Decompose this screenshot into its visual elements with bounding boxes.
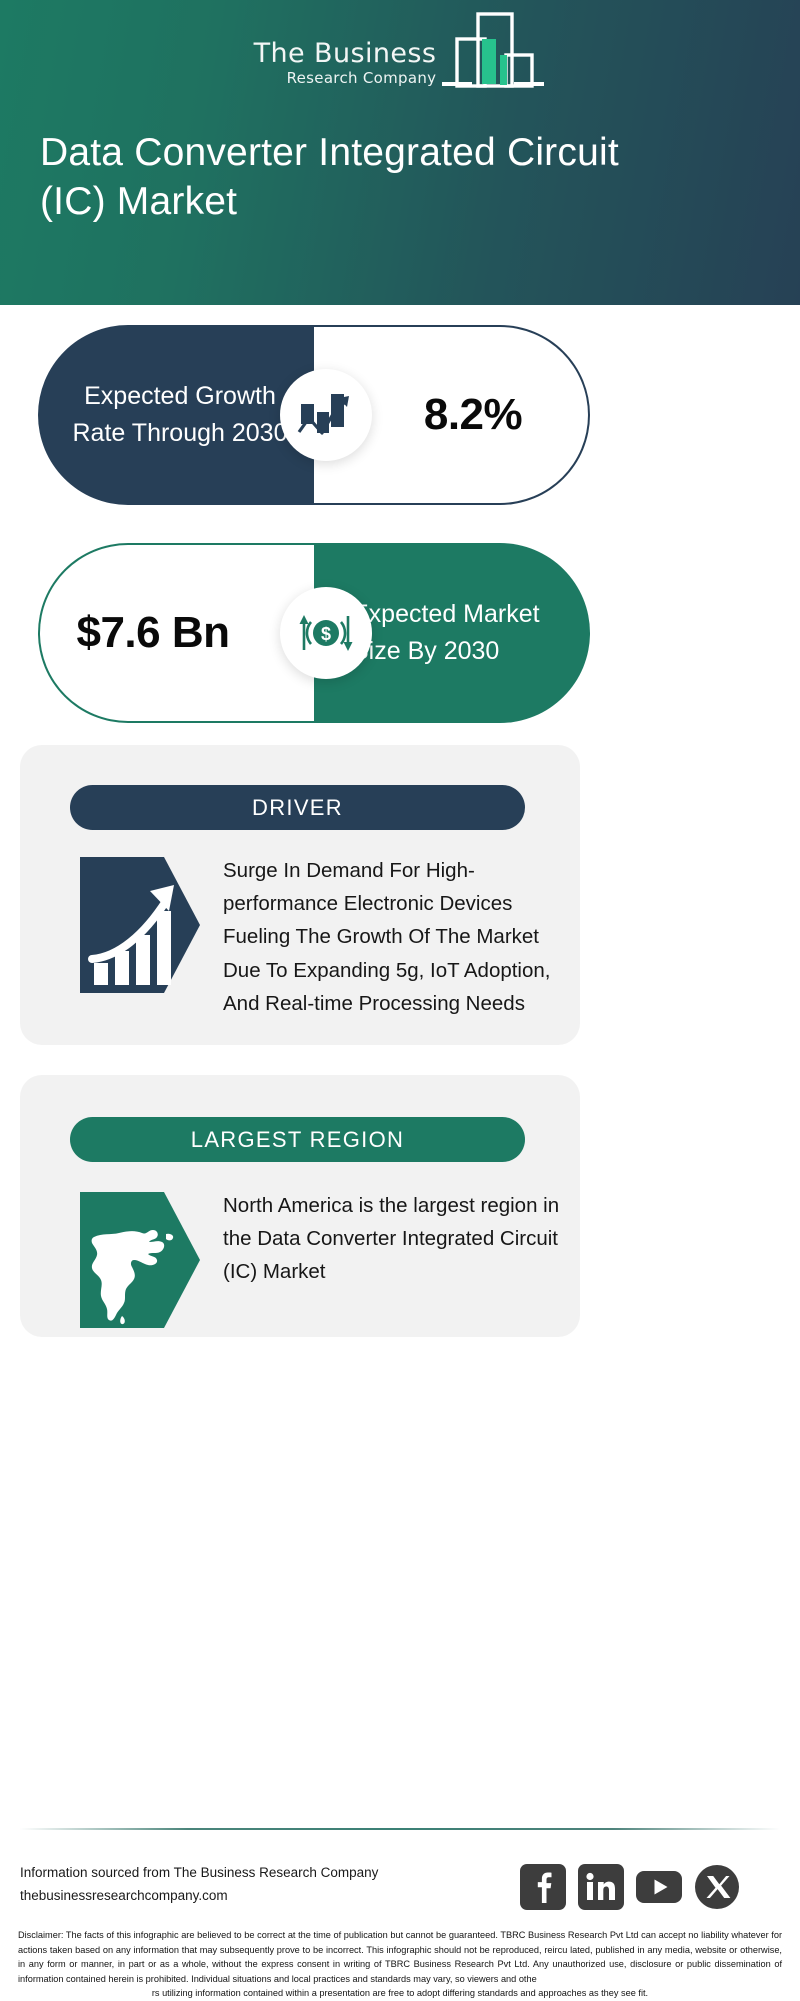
disclaimer-last-line: rs utilizing information contained withi… [18, 1986, 782, 2001]
company-logo: The Business Research Company [0, 14, 800, 90]
stat-value: 8.2% [380, 390, 522, 440]
social-links [520, 1862, 780, 1912]
driver-heading-pill: DRIVER [70, 785, 525, 830]
infographic-page: The Business Research Company Data Conve… [0, 0, 800, 2000]
footer-divider [20, 1828, 780, 1830]
growth-bar-chart-arrow-icon [280, 369, 372, 461]
driver-text: Surge In Demand For High-performance Ele… [223, 852, 562, 1020]
stat-value-panel: $7.6 Bn [38, 543, 314, 723]
page-title: Data Converter Integrated Circuit (IC) M… [40, 128, 640, 226]
region-heading-pill: LARGEST REGION [70, 1117, 525, 1162]
svg-text:$: $ [321, 624, 331, 644]
driver-panel: DRIVER Surge In Demand For High-performa… [20, 745, 580, 1045]
stat-card-growth-rate: Expected Growth Rate Through 2030 8.2% [38, 325, 590, 505]
disclaimer-text: Disclaimer: The facts of this infographi… [18, 1928, 782, 2001]
stat-card-market-size: $7.6 Bn Expected Market Size By 2030 $ [38, 543, 590, 723]
logo-line-1: The Business [254, 40, 437, 67]
disclaimer-main: Disclaimer: The facts of this infographi… [18, 1930, 782, 1984]
largest-region-panel: LARGEST REGION North America is the larg… [20, 1075, 580, 1337]
logo-text: The Business Research Company [254, 40, 437, 90]
stat-label-panel: Expected Growth Rate Through 2030 [38, 325, 314, 505]
region-text: North America is the largest region in t… [223, 1187, 562, 1332]
linkedin-icon[interactable] [578, 1864, 624, 1910]
driver-heading: DRIVER [252, 795, 343, 821]
driver-body: Surge In Demand For High-performance Ele… [75, 852, 562, 1020]
rising-bar-chart-arrow-icon [75, 852, 205, 997]
source-website[interactable]: thebusinessresearchcompany.com [20, 1885, 500, 1908]
source-line-1: Information sourced from The Business Re… [20, 1862, 500, 1885]
dollar-circular-arrows-icon: $ [280, 587, 372, 679]
header-banner: The Business Research Company Data Conve… [0, 0, 800, 305]
region-body: North America is the largest region in t… [75, 1187, 562, 1332]
stat-label: Expected Growth Rate Through 2030 [38, 378, 314, 452]
region-heading: LARGEST REGION [191, 1127, 404, 1153]
youtube-icon[interactable] [636, 1864, 682, 1910]
facebook-icon[interactable] [520, 1864, 566, 1910]
logo-line-2: Research Company [287, 71, 437, 86]
bar-chart-logo-mark-icon [440, 10, 546, 88]
x-twitter-icon[interactable] [694, 1864, 740, 1910]
source-attribution: Information sourced from The Business Re… [20, 1862, 500, 1907]
north-america-map-icon [75, 1187, 205, 1332]
stat-value: $7.6 Bn [76, 606, 277, 660]
